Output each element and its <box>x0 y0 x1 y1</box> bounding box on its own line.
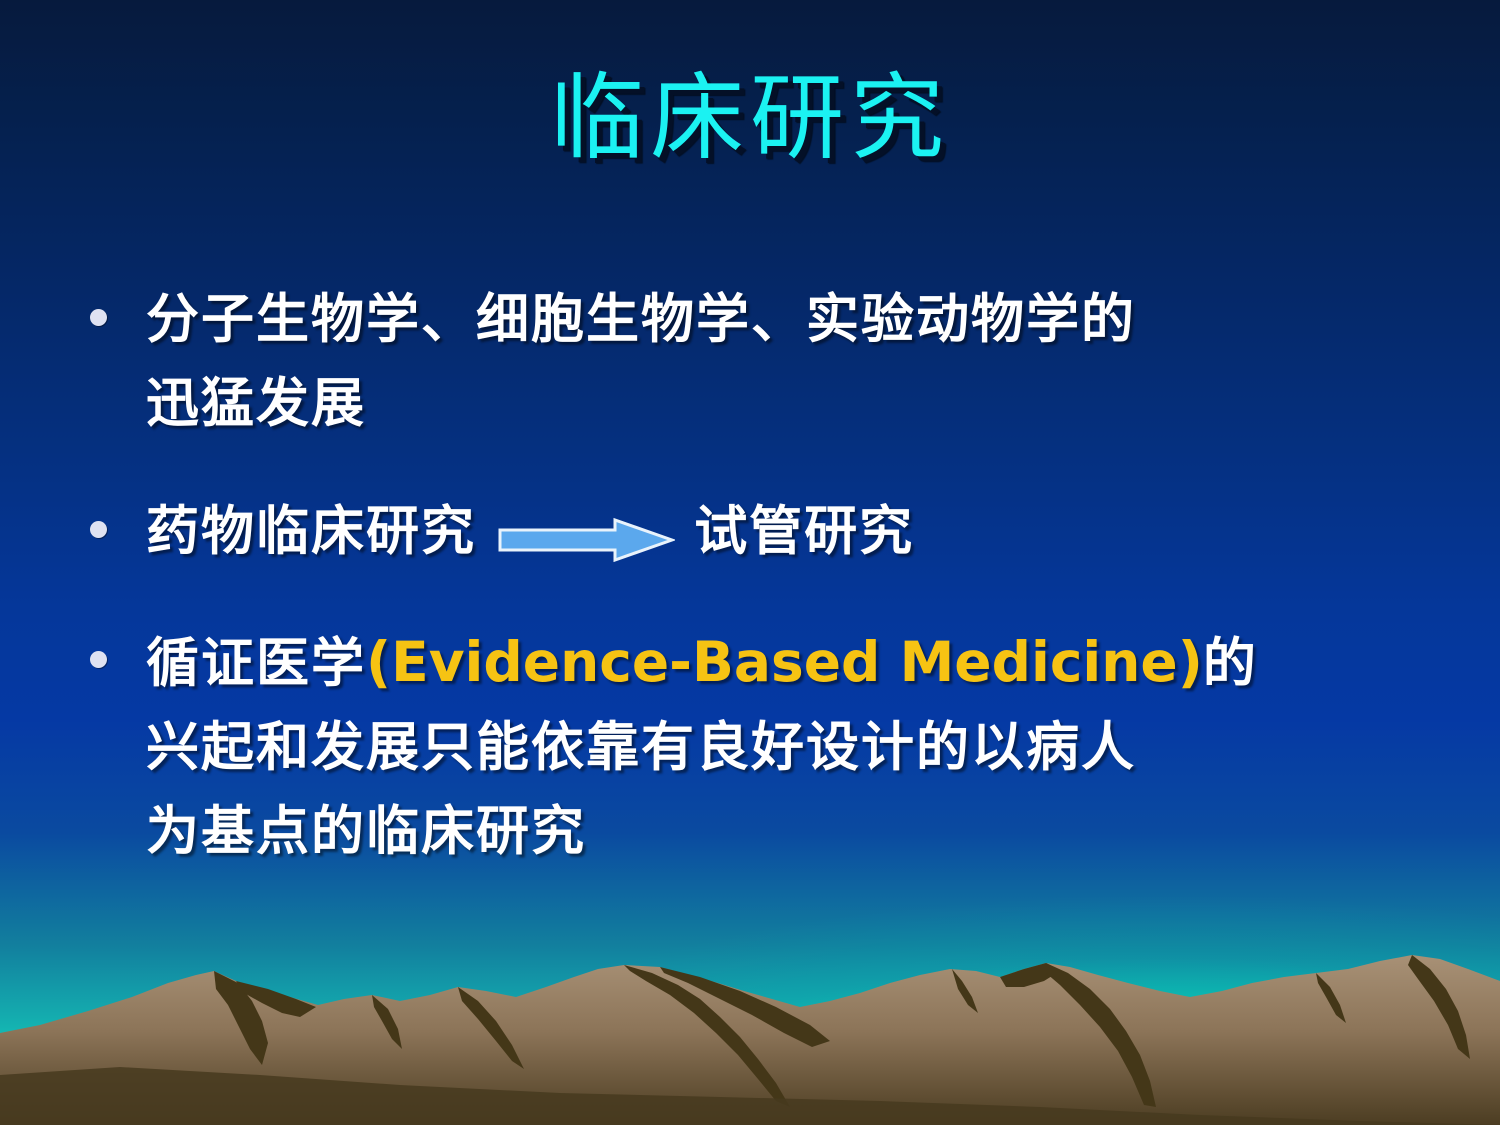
bullet-3-particle: 的 <box>1203 633 1258 694</box>
bullet-item-3: 循证医学(Evidence-Based Medicine)的 兴起和发展只能依靠… <box>78 620 1428 874</box>
bullet-1-line-1: 分子生物学、细胞生物学、实验动物学的 <box>146 278 1428 362</box>
bullet-1-text-1: 分子生物学、细胞生物学、实验动物学的 <box>146 289 1136 350</box>
slide-body: 分子生物学、细胞生物学、实验动物学的 迅猛发展 药物临床研究 试管研究 <box>78 278 1428 874</box>
mountain-range-illustration <box>0 925 1500 1125</box>
bullet-dot-icon <box>90 651 107 668</box>
bullet-3-term-cn: 循证医学 <box>146 633 366 694</box>
bullet-dot-icon <box>90 309 107 326</box>
bullet-item-2: 药物临床研究 试管研究 <box>78 490 1428 574</box>
bullet-3-text-2: 兴起和发展只能依靠有良好设计的以病人 <box>146 717 1136 778</box>
slide: 临床研究 分子生物学、细胞生物学、实验动物学的 迅猛发展 药物临床研究 <box>0 0 1500 1125</box>
bullet-1-text-2: 迅猛发展 <box>146 373 366 434</box>
bullet-2-text-target: 试管研究 <box>694 501 914 562</box>
right-block-arrow-icon <box>497 517 675 563</box>
bullet-3-line-1: 循证医学(Evidence-Based Medicine)的 <box>146 620 1428 706</box>
bullet-3-text-3: 为基点的临床研究 <box>146 801 586 862</box>
bullet-item-1: 分子生物学、细胞生物学、实验动物学的 迅猛发展 <box>78 278 1428 446</box>
bullet-3-term-en: (Evidence-Based Medicine) <box>366 630 1203 694</box>
bullet-2-text-source: 药物临床研究 <box>146 501 476 562</box>
bullet-dot-icon <box>90 521 107 538</box>
bullet-3-line-3: 为基点的临床研究 <box>146 790 1428 874</box>
bullet-3-line-2: 兴起和发展只能依靠有良好设计的以病人 <box>146 706 1428 790</box>
page-title: 临床研究 <box>0 72 1500 166</box>
bullet-1-line-2: 迅猛发展 <box>146 362 1428 446</box>
bullet-2-line-1: 药物临床研究 试管研究 <box>146 490 1428 574</box>
